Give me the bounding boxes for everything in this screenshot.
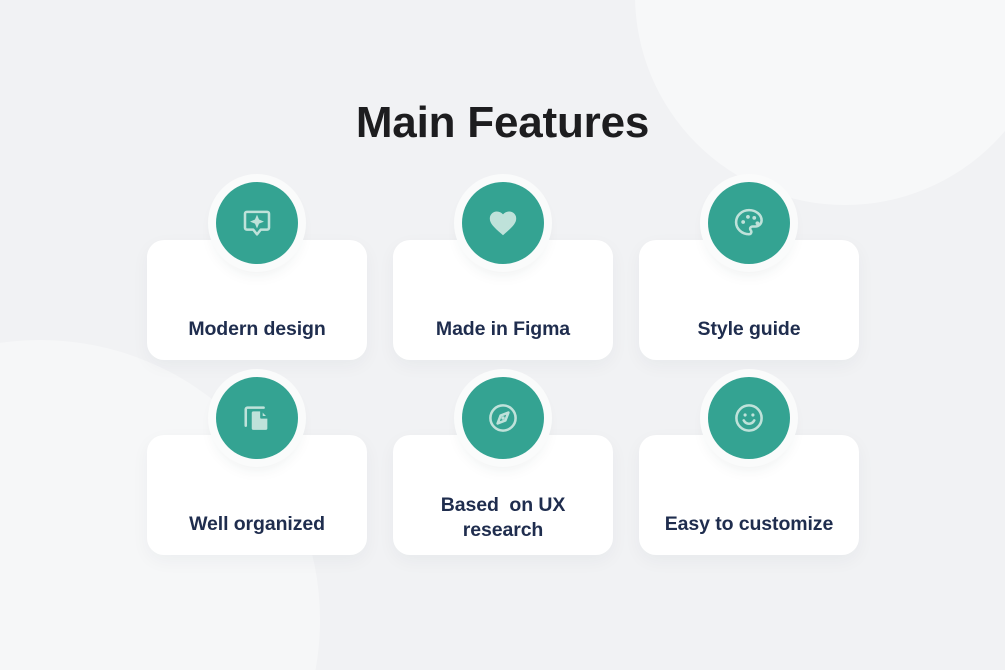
feature-label: Easy to customize: [665, 512, 833, 537]
copy-documents-icon: [216, 377, 298, 459]
feature-card-easy-to-customize[interactable]: Easy to customize: [639, 435, 859, 555]
sparkle-message-icon: [216, 182, 298, 264]
feature-card-well-organized[interactable]: Well organized: [147, 435, 367, 555]
feature-label: Style guide: [698, 317, 801, 342]
features-grid: Modern design Made in Figma: [147, 240, 860, 555]
palette-icon: [708, 182, 790, 264]
feature-card-made-in-figma[interactable]: Made in Figma: [393, 240, 613, 360]
page-title: Main Features: [0, 96, 1005, 150]
feature-card-style-guide[interactable]: Style guide: [639, 240, 859, 360]
heart-icon: [462, 182, 544, 264]
features-page: Main Features Modern design Made in Figm…: [0, 0, 1005, 670]
smiley-face-icon: [708, 377, 790, 459]
feature-card-modern-design[interactable]: Modern design: [147, 240, 367, 360]
feature-label: Modern design: [188, 317, 325, 342]
feature-label: Based on UX research: [408, 493, 598, 543]
compass-icon: [462, 377, 544, 459]
feature-card-based-on-ux-research[interactable]: Based on UX research: [393, 435, 613, 555]
feature-label: Made in Figma: [436, 317, 570, 342]
feature-label: Well organized: [189, 512, 325, 537]
